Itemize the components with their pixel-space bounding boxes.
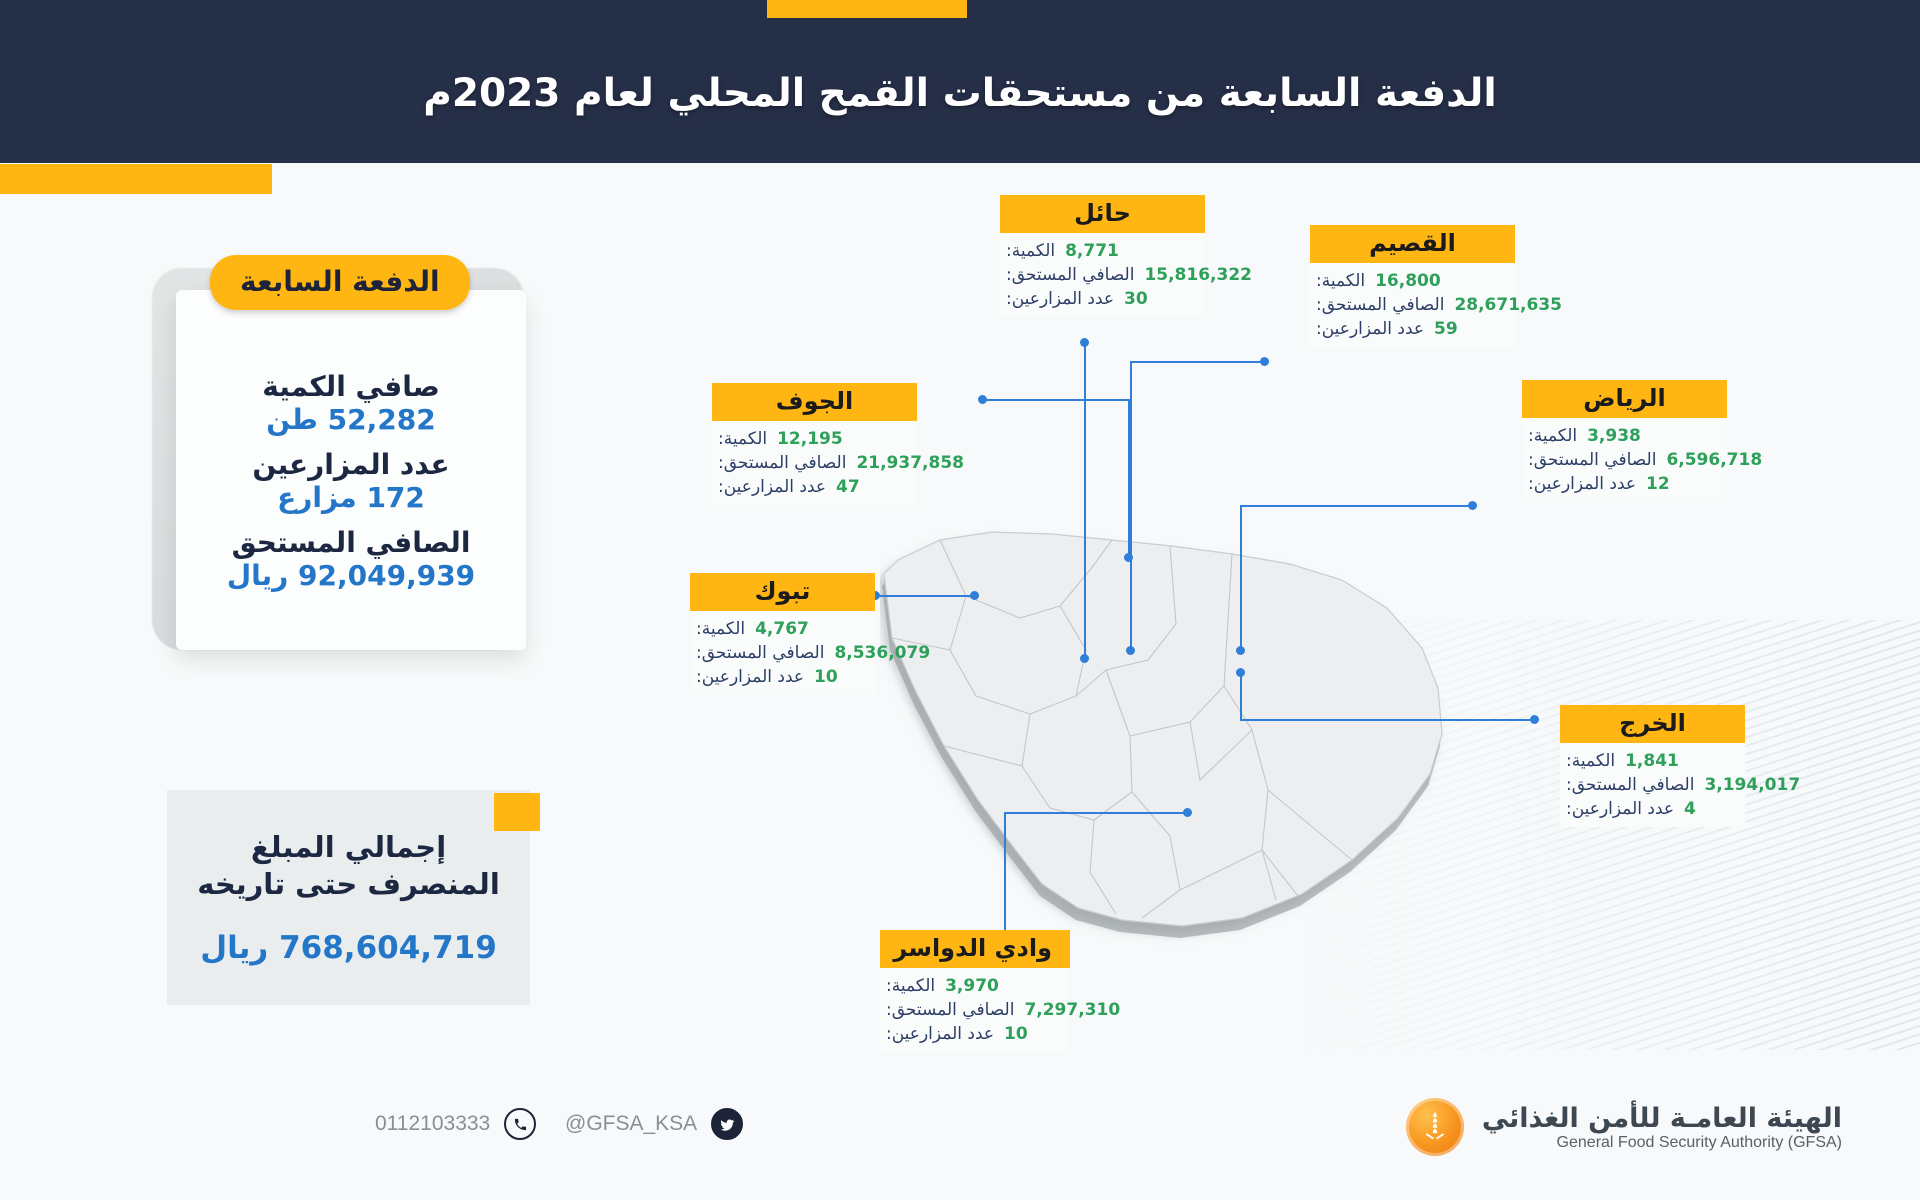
- value-net-due: 21,937,858: [856, 451, 964, 475]
- twitter-icon: [711, 1108, 743, 1140]
- value-net-due: 8,536,079: [834, 641, 930, 665]
- connector-dot-qassim-start: [1260, 357, 1269, 366]
- connector-dot-hail-end: [1080, 654, 1089, 663]
- region-row-net-due: الصافي المستحق: 21,937,858: [718, 451, 911, 475]
- label-farmers: عدد المزارعين:: [886, 1022, 994, 1046]
- region-row-quantity: الكمية: 3,938: [1528, 424, 1721, 448]
- label-farmers: عدد المزارعين:: [1566, 797, 1674, 821]
- value-farmers: 47: [836, 475, 860, 499]
- region-row-quantity: الكمية: 1,841: [1566, 749, 1739, 773]
- label-farmers: عدد المزارعين:: [1006, 287, 1114, 311]
- label-farmers: عدد المزارعين:: [1316, 317, 1424, 341]
- stat-net-quantity-label: صافي الكمية: [262, 370, 440, 403]
- total-disbursed-label-line2: المنصرف حتى تاريخه: [197, 866, 500, 902]
- region-title-qassim: القصيم: [1310, 225, 1515, 263]
- region-row-farmers: عدد المزارعين: 12: [1528, 472, 1721, 496]
- connector-riyadh-vertical: [1240, 505, 1242, 650]
- region-row-net-due: الصافي المستحق: 8,536,079: [696, 641, 869, 665]
- value-quantity: 3,970: [945, 974, 999, 998]
- stat-net-due: الصافي المستحق 92,049,939 ريال: [227, 526, 475, 592]
- label-net-due: الصافي المستحق:: [1566, 773, 1694, 797]
- footer-twitter[interactable]: @GFSA_KSA: [565, 1108, 743, 1140]
- region-stats-aljouf: الكمية: 12,195 الصافي المستحق: 21,937,85…: [712, 421, 917, 505]
- region-stats-hail: الكمية: 8,771 الصافي المستحق: 15,816,322…: [1000, 233, 1205, 317]
- region-title-wadi-aldawasir: وادي الدواسر: [880, 930, 1070, 968]
- connector-dot-riyadh-end: [1236, 646, 1245, 655]
- region-row-farmers: عدد المزارعين: 10: [886, 1022, 1064, 1046]
- label-quantity: الكمية:: [1528, 424, 1577, 448]
- value-farmers: 12: [1646, 472, 1670, 496]
- connector-qassim-vertical: [1130, 361, 1132, 650]
- region-callout-riyadh[interactable]: الرياض الكمية: 3,938 الصافي المستحق: 6,5…: [1522, 380, 1727, 502]
- connector-wadi-vertical: [1004, 812, 1006, 936]
- value-quantity: 16,800: [1375, 269, 1441, 293]
- connector-dot-jouf-start: [978, 395, 987, 404]
- page-header: الدفعة السابعة من مستحقات القمح المحلي ل…: [0, 0, 1920, 163]
- connector-dot-jouf-end: [1124, 553, 1133, 562]
- total-disbursed-box: إجمالي المبلغ المنصرف حتى تاريخه 768,604…: [167, 790, 530, 1005]
- connector-dot-hail-start: [1080, 338, 1089, 347]
- region-row-quantity: الكمية: 4,767: [696, 617, 869, 641]
- total-disbursed-value: 768,604,719 ريال: [200, 930, 497, 966]
- phone-icon: [504, 1108, 536, 1140]
- label-quantity: الكمية:: [1566, 749, 1615, 773]
- connector-dot-kharj-start: [1530, 715, 1539, 724]
- region-title-aljouf: الجوف: [712, 383, 917, 421]
- value-quantity: 3,938: [1587, 424, 1641, 448]
- stat-net-due-label: الصافي المستحق: [227, 526, 475, 559]
- region-row-net-due: الصافي المستحق: 28,671,635: [1316, 293, 1509, 317]
- connector-dot-wadi-start: [1183, 808, 1192, 817]
- region-stats-riyadh: الكمية: 3,938 الصافي المستحق: 6,596,718 …: [1522, 418, 1727, 502]
- region-title-hail: حائل: [1000, 195, 1205, 233]
- value-quantity: 1,841: [1625, 749, 1679, 773]
- region-row-farmers: عدد المزارعين: 59: [1316, 317, 1509, 341]
- saudi-arabia-map: [880, 500, 1520, 950]
- region-stats-alkharj: الكمية: 1,841 الصافي المستحق: 3,194,017 …: [1560, 743, 1745, 827]
- label-quantity: الكمية:: [696, 617, 745, 641]
- gfsa-brand: الهيئة العامـة للأمن الغذائي General Foo…: [1406, 1098, 1842, 1156]
- region-row-farmers: عدد المزارعين: 10: [696, 665, 869, 689]
- value-farmers: 10: [814, 665, 838, 689]
- region-callout-hail[interactable]: حائل الكمية: 8,771 الصافي المستحق: 15,81…: [1000, 195, 1205, 317]
- connector-jouf-horizontal: [982, 399, 1130, 401]
- label-quantity: الكمية:: [718, 427, 767, 451]
- footer-phone[interactable]: 0112103333: [375, 1108, 536, 1140]
- region-row-net-due: الصافي المستحق: 15,816,322: [1006, 263, 1199, 287]
- value-net-due: 15,816,322: [1144, 263, 1252, 287]
- stat-farmer-count-value: 172 مزارع: [252, 481, 449, 514]
- label-quantity: الكمية:: [1006, 239, 1055, 263]
- region-callout-wadi-aldawasir[interactable]: وادي الدواسر الكمية: 3,970 الصافي المستح…: [880, 930, 1070, 1052]
- brand-name-arabic: الهيئة العامـة للأمن الغذائي: [1482, 1103, 1842, 1134]
- stat-farmer-count: عدد المزارعين 172 مزارع: [252, 448, 449, 514]
- wheat-emblem-icon: [1406, 1098, 1464, 1156]
- connector-kharj-horizontal: [1240, 719, 1534, 721]
- label-farmers: عدد المزارعين:: [1528, 472, 1636, 496]
- value-quantity: 4,767: [755, 617, 809, 641]
- connector-wadi-horizontal: [1004, 812, 1187, 814]
- connector-riyadh-horizontal: [1240, 505, 1472, 507]
- region-stats-qassim: الكمية: 16,800 الصافي المستحق: 28,671,63…: [1310, 263, 1515, 347]
- region-row-quantity: الكمية: 16,800: [1316, 269, 1509, 293]
- value-farmers: 30: [1124, 287, 1148, 311]
- value-net-due: 6,596,718: [1666, 448, 1762, 472]
- connector-dot-kharj-end: [1236, 668, 1245, 677]
- map-country-outline: [884, 532, 1442, 926]
- region-stats-tabuk: الكمية: 4,767 الصافي المستحق: 8,536,079 …: [690, 611, 875, 695]
- stat-net-due-value: 92,049,939 ريال: [227, 559, 475, 592]
- value-farmers: 10: [1004, 1022, 1028, 1046]
- label-net-due: الصافي المستحق:: [1316, 293, 1444, 317]
- region-stats-wadi-aldawasir: الكمية: 3,970 الصافي المستحق: 7,297,310 …: [880, 968, 1070, 1052]
- connector-dot-tabuk-end: [970, 591, 979, 600]
- region-row-quantity: الكمية: 8,771: [1006, 239, 1199, 263]
- region-row-farmers: عدد المزارعين: 30: [1006, 287, 1199, 311]
- label-net-due: الصافي المستحق:: [718, 451, 846, 475]
- region-callout-qassim[interactable]: القصيم الكمية: 16,800 الصافي المستحق: 28…: [1310, 225, 1515, 347]
- footer-twitter-handle: @GFSA_KSA: [565, 1112, 697, 1136]
- total-box-accent-tab: [494, 793, 540, 831]
- stat-net-quantity-value: 52,282 طن: [262, 403, 440, 436]
- region-row-quantity: الكمية: 12,195: [718, 427, 911, 451]
- label-quantity: الكمية:: [886, 974, 935, 998]
- map-svg: [880, 500, 1520, 950]
- label-farmers: عدد المزارعين:: [696, 665, 804, 689]
- value-net-due: 7,297,310: [1024, 998, 1120, 1022]
- label-quantity: الكمية:: [1316, 269, 1365, 293]
- value-net-due: 3,194,017: [1704, 773, 1800, 797]
- connector-kharj-vertical: [1240, 672, 1242, 719]
- value-quantity: 12,195: [777, 427, 843, 451]
- region-row-farmers: عدد المزارعين: 4: [1566, 797, 1739, 821]
- value-quantity: 8,771: [1065, 239, 1119, 263]
- label-net-due: الصافي المستحق:: [1006, 263, 1134, 287]
- page-title: الدفعة السابعة من مستحقات القمح المحلي ل…: [0, 0, 1920, 163]
- region-callout-tabuk[interactable]: تبوك الكمية: 4,767 الصافي المستحق: 8,536…: [690, 573, 875, 695]
- footer-phone-number: 0112103333: [375, 1112, 490, 1136]
- stat-farmer-count-label: عدد المزارعين: [252, 448, 449, 481]
- region-title-alkharj: الخرج: [1560, 705, 1745, 743]
- stat-net-quantity: صافي الكمية 52,282 طن: [262, 370, 440, 436]
- region-row-quantity: الكمية: 3,970: [886, 974, 1064, 998]
- region-row-net-due: الصافي المستحق: 7,297,310: [886, 998, 1064, 1022]
- label-net-due: الصافي المستحق:: [696, 641, 824, 665]
- value-farmers: 4: [1684, 797, 1696, 821]
- label-net-due: الصافي المستحق:: [886, 998, 1014, 1022]
- connector-qassim-horizontal: [1130, 361, 1265, 363]
- total-disbursed-label-line1: إجمالي المبلغ: [197, 829, 500, 865]
- label-farmers: عدد المزارعين:: [718, 475, 826, 499]
- region-row-net-due: الصافي المستحق: 3,194,017: [1566, 773, 1739, 797]
- value-net-due: 28,671,635: [1454, 293, 1562, 317]
- header-accent-bar-left: [0, 164, 272, 194]
- label-net-due: الصافي المستحق:: [1528, 448, 1656, 472]
- region-title-riyadh: الرياض: [1522, 380, 1727, 418]
- value-farmers: 59: [1434, 317, 1458, 341]
- connector-tabuk-horizontal: [875, 595, 974, 597]
- region-row-net-due: الصافي المستحق: 6,596,718: [1528, 448, 1721, 472]
- region-title-tabuk: تبوك: [690, 573, 875, 611]
- brand-name-english: General Food Security Authority (GFSA): [1482, 1134, 1842, 1152]
- connector-dot-qassim-end: [1126, 646, 1135, 655]
- wheat-glyph: [1418, 1110, 1452, 1144]
- connector-hail-vertical: [1084, 342, 1086, 658]
- region-callout-aljouf[interactable]: الجوف الكمية: 12,195 الصافي المستحق: 21,…: [712, 383, 917, 505]
- brand-text: الهيئة العامـة للأمن الغذائي General Foo…: [1482, 1103, 1842, 1152]
- payment-summary-card: صافي الكمية 52,282 طن عدد المزارعين 172 …: [176, 290, 526, 650]
- connector-jouf-vertical: [1128, 399, 1130, 557]
- region-row-farmers: عدد المزارعين: 47: [718, 475, 911, 499]
- payment-badge: الدفعة السابعة: [210, 255, 470, 310]
- region-callout-alkharj[interactable]: الخرج الكمية: 1,841 الصافي المستحق: 3,19…: [1560, 705, 1745, 827]
- total-disbursed-label: إجمالي المبلغ المنصرف حتى تاريخه: [197, 829, 500, 902]
- connector-dot-riyadh-start: [1468, 501, 1477, 510]
